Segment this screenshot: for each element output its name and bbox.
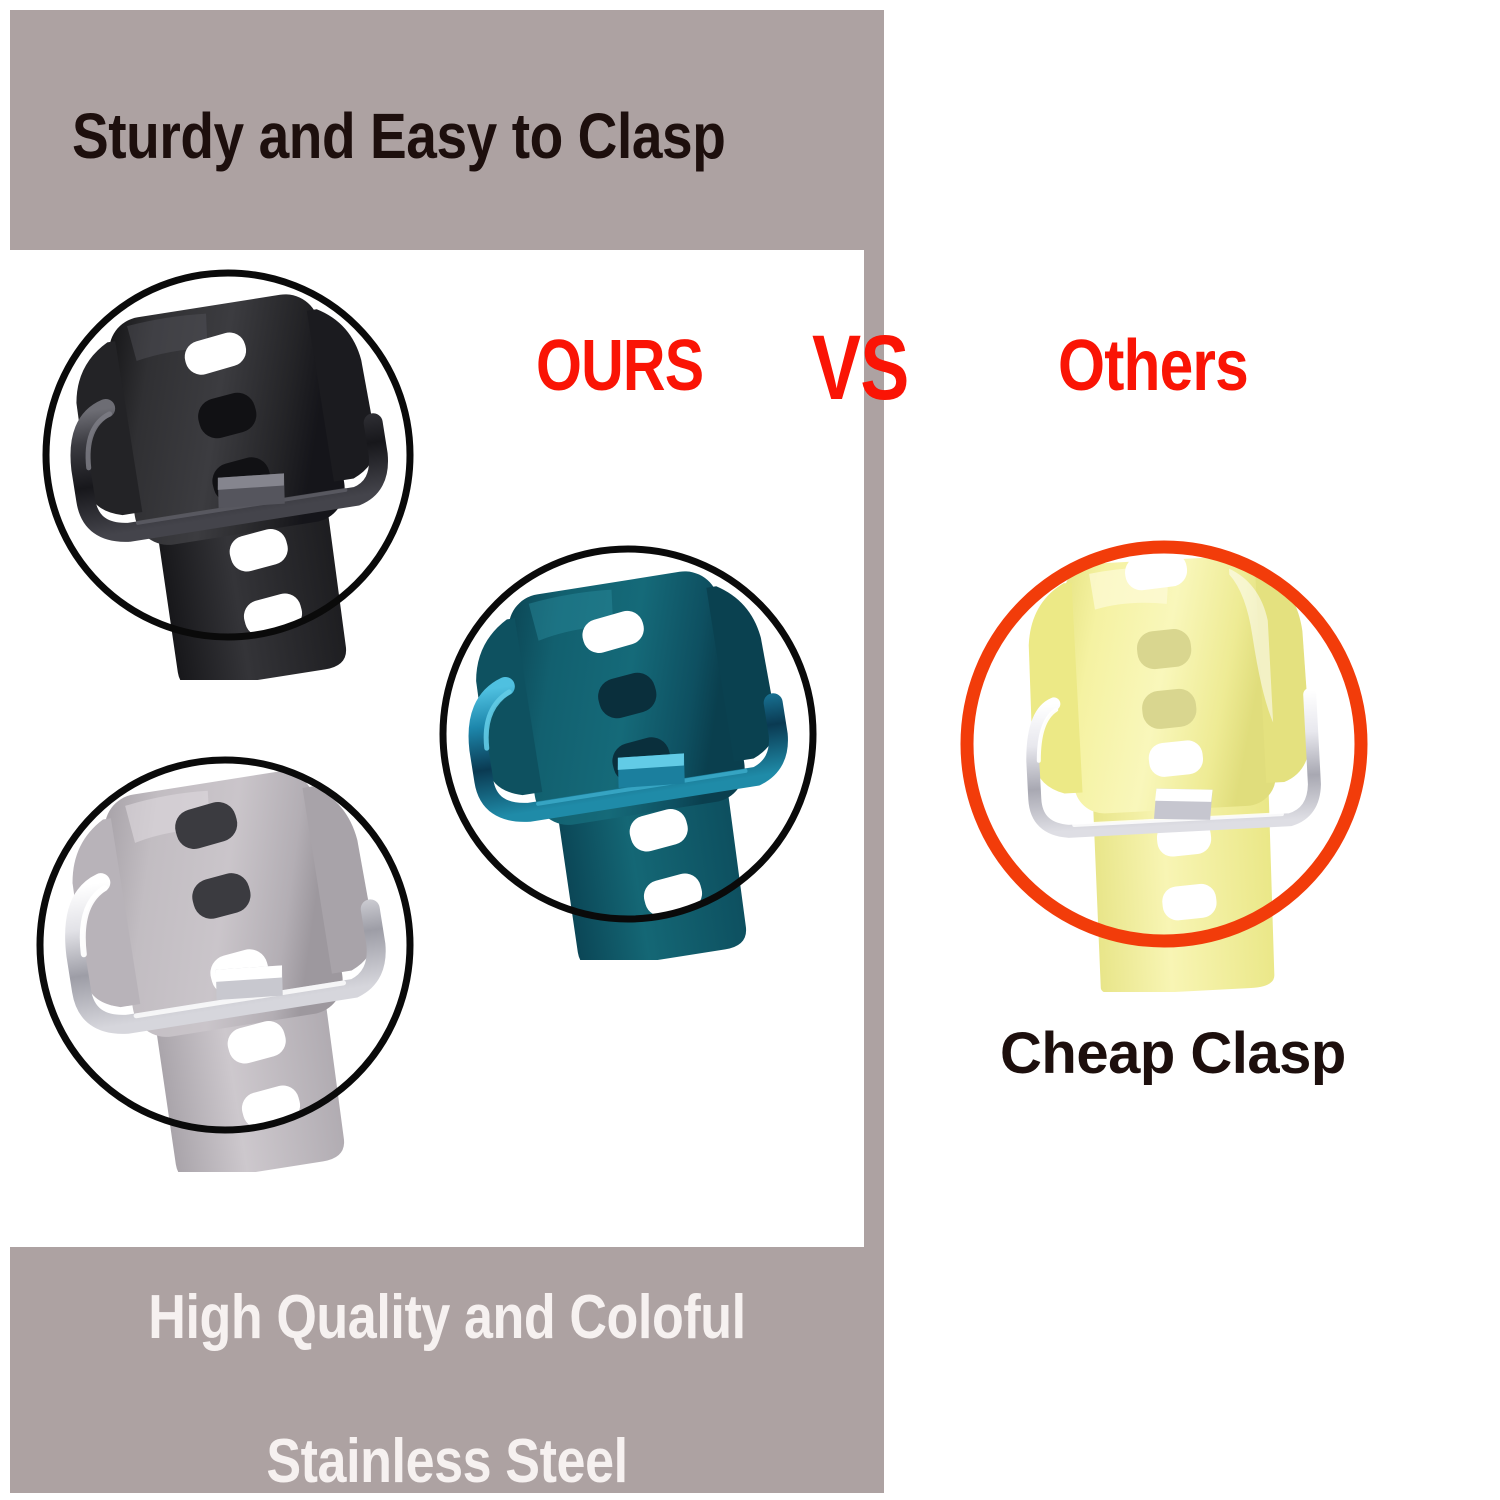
product-figure-teal [420, 530, 850, 960]
cheap-clasp-caption: Cheap Clasp [1000, 1020, 1346, 1087]
product-figure-gray [18, 742, 448, 1172]
band-body [58, 761, 408, 1172]
footer: High Quality and Coloful Stainless Steel [10, 1255, 884, 1493]
others-label: Others [1058, 330, 1248, 402]
page-title: Sturdy and Easy to Clasp [72, 104, 726, 168]
footer-line-2: Stainless Steel [80, 1431, 814, 1493]
ours-label: OURS [536, 330, 703, 402]
infographic-canvas: Sturdy and Easy to Clasp [0, 0, 1500, 1500]
vs-label: VS [812, 322, 909, 414]
band-body [1022, 545, 1323, 992]
product-figure-black [20, 250, 450, 680]
footer-line-1: High Quality and Coloful [80, 1287, 814, 1349]
product-figure-yellow [938, 492, 1398, 992]
